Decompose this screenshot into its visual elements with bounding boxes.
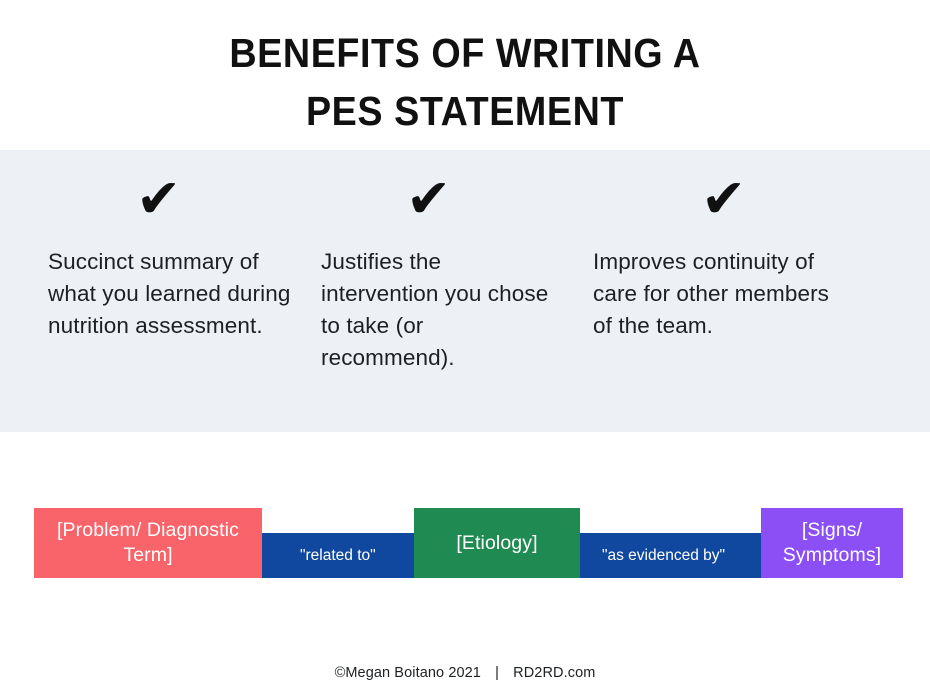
pes-block-signs-symptoms: [Signs/ Symptoms] <box>761 508 903 578</box>
benefit-item-2: ✔ Justifies the intervention you chose t… <box>305 150 593 432</box>
checkmark-icon: ✔ <box>593 150 910 230</box>
pes-block-etiology: [Etiology] <box>414 508 580 578</box>
pes-formula-diagram: "related to" "as evidenced by" [Problem/… <box>0 490 930 590</box>
benefit-item-1: ✔ Succinct summary of what you learned d… <box>0 150 305 432</box>
footer-copyright: ©Megan Boitano 2021 <box>335 665 481 681</box>
benefits-row: ✔ Succinct summary of what you learned d… <box>0 150 930 432</box>
benefits-band: ✔ Succinct summary of what you learned d… <box>0 150 930 432</box>
footer-credit: ©Megan Boitano 2021 | RD2RD.com <box>0 663 930 683</box>
connector-label-as-evidenced-by: "as evidenced by" <box>602 533 725 578</box>
connector-label-related-to: "related to" <box>300 533 376 578</box>
title-line-1: BENEFITS OF WRITING A <box>37 24 893 82</box>
footer-site: RD2RD.com <box>513 665 595 681</box>
footer-separator: | <box>485 663 509 683</box>
infographic-canvas: BENEFITS OF WRITING A PES STATEMENT ✔ Su… <box>0 0 930 700</box>
benefit-text-2: Justifies the intervention you chose to … <box>321 246 553 374</box>
benefit-item-3: ✔ Improves continuity of care for other … <box>593 150 930 432</box>
pes-block-problem: [Problem/ Diagnostic Term] <box>34 508 262 578</box>
benefit-text-1: Succinct summary of what you learned dur… <box>48 246 300 342</box>
benefit-text-3: Improves continuity of care for other me… <box>593 246 843 342</box>
page-title: BENEFITS OF WRITING A PES STATEMENT <box>0 24 930 140</box>
checkmark-icon: ✔ <box>48 150 291 230</box>
title-line-2: PES STATEMENT <box>37 82 893 140</box>
checkmark-icon: ✔ <box>321 150 579 230</box>
